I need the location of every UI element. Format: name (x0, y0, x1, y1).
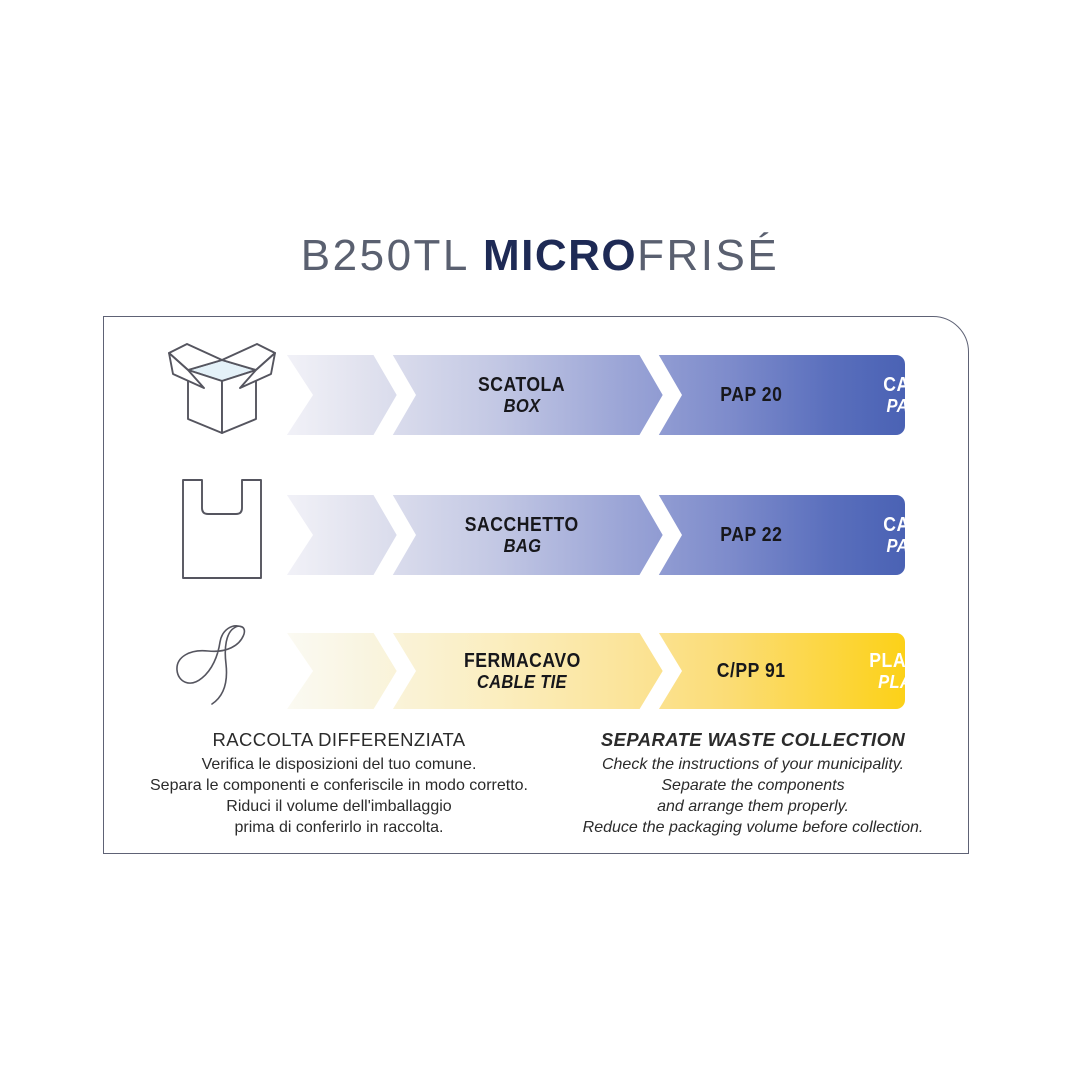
recycling-info-card: SCATOLA BOX PAP 20 CARTA PAPER SACCHE (103, 316, 969, 854)
title-brand-suffix: FRISÉ (637, 231, 779, 280)
cable-tie-icon (159, 617, 284, 715)
flow-band-cable-tie: FERMACAVO CABLE TIE C/PP 91 PLASTICA PLA… (284, 633, 905, 709)
footer-italian-line: Separa le componenti e conferiscile in m… (132, 775, 546, 796)
open-box-icon (159, 339, 284, 439)
band-gradient (284, 633, 905, 709)
footer-english-line: and arrange them properly. (546, 796, 960, 817)
footer-english-line: Reduce the packaging volume before colle… (546, 817, 960, 838)
footer-instructions: RACCOLTA DIFFERENZIATA Verifica le dispo… (104, 729, 970, 838)
footer-english-line: Separate the components (546, 775, 960, 796)
page-title: B250TL MICROFRISÉ (0, 231, 1080, 281)
band-gradient (284, 495, 905, 575)
material-row-box: SCATOLA BOX PAP 20 CARTA PAPER (104, 339, 970, 439)
band-gradient (284, 355, 905, 435)
footer-italian-heading: RACCOLTA DIFFERENZIATA (132, 729, 546, 751)
flow-band-box: SCATOLA BOX PAP 20 CARTA PAPER (284, 355, 905, 435)
footer-italian-line: Verifica le disposizioni del tuo comune. (132, 754, 546, 775)
material-row-bag: SACCHETTO BAG PAP 22 CARTA PAPER (104, 479, 970, 579)
shopping-bag-icon (159, 479, 284, 579)
footer-italian-line: Riduci il volume dell'imballaggio (132, 796, 546, 817)
footer-italian: RACCOLTA DIFFERENZIATA Verifica le dispo… (104, 729, 546, 838)
footer-english: SEPARATE WASTE COLLECTION Check the inst… (546, 729, 970, 838)
footer-italian-line: prima di conferirlo in raccolta. (132, 817, 546, 838)
footer-english-heading: SEPARATE WASTE COLLECTION (546, 729, 960, 751)
title-model-code: B250TL (301, 231, 483, 280)
flow-band-bag: SACCHETTO BAG PAP 22 CARTA PAPER (284, 495, 905, 575)
title-brand-bold: MICRO (483, 231, 637, 280)
footer-english-line: Check the instructions of your municipal… (546, 754, 960, 775)
material-row-cable-tie: FERMACAVO CABLE TIE C/PP 91 PLASTICA PLA… (104, 617, 970, 715)
